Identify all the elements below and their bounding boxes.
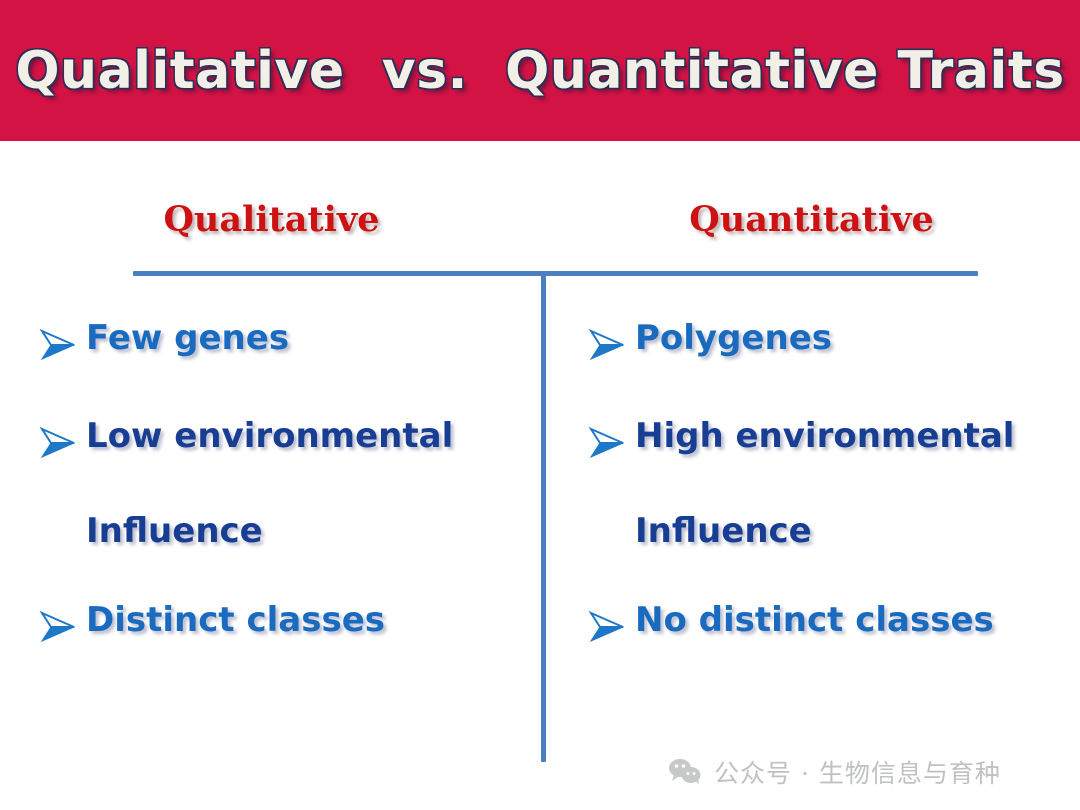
list-item: Few genes xyxy=(34,321,534,367)
list-item: High environmental xyxy=(583,419,1073,465)
watermark-text: 公众号 · 生物信息与育种 xyxy=(714,754,1001,790)
vertical-divider xyxy=(541,272,546,762)
column-header-quantitative: Quantitative xyxy=(543,199,1080,240)
column-header-qualitative: Qualitative xyxy=(0,199,543,240)
page-title: Qualitative vs. Quantitative Traits xyxy=(15,41,1064,101)
qualitative-column: Few genes Low environmental Influence xyxy=(34,321,534,701)
list-item-label: Few genes xyxy=(86,321,289,357)
list-item: Low environmental xyxy=(34,419,534,465)
watermark: 公众号 · 生物信息与育种 xyxy=(668,754,1001,790)
arrowhead-bullet-icon xyxy=(34,323,86,367)
comparison-board: Qualitative Quantitative Few genes xyxy=(0,141,1080,810)
list-item: Polygenes xyxy=(583,321,1073,367)
wechat-icon xyxy=(668,758,702,786)
arrowhead-bullet-icon xyxy=(583,323,635,367)
list-item-continuation: Influence xyxy=(86,511,534,551)
arrowhead-bullet-icon xyxy=(583,605,635,649)
list-item-label: No distinct classes xyxy=(635,603,994,639)
title-banner: Qualitative vs. Quantitative Traits xyxy=(0,0,1080,141)
arrowhead-bullet-icon xyxy=(34,421,86,465)
list-item: Distinct classes xyxy=(34,603,534,649)
list-item-label: Distinct classes xyxy=(86,603,385,639)
list-item-label: Polygenes xyxy=(635,321,832,357)
list-item-continuation: Influence xyxy=(635,511,1073,551)
arrowhead-bullet-icon xyxy=(583,421,635,465)
list-item-label: High environmental xyxy=(635,419,1014,455)
list-item: No distinct classes xyxy=(583,603,1073,649)
quantitative-column: Polygenes High environmental Influence xyxy=(583,321,1073,701)
list-item-label: Low environmental xyxy=(86,419,453,455)
horizontal-divider xyxy=(133,271,978,276)
arrowhead-bullet-icon xyxy=(34,605,86,649)
